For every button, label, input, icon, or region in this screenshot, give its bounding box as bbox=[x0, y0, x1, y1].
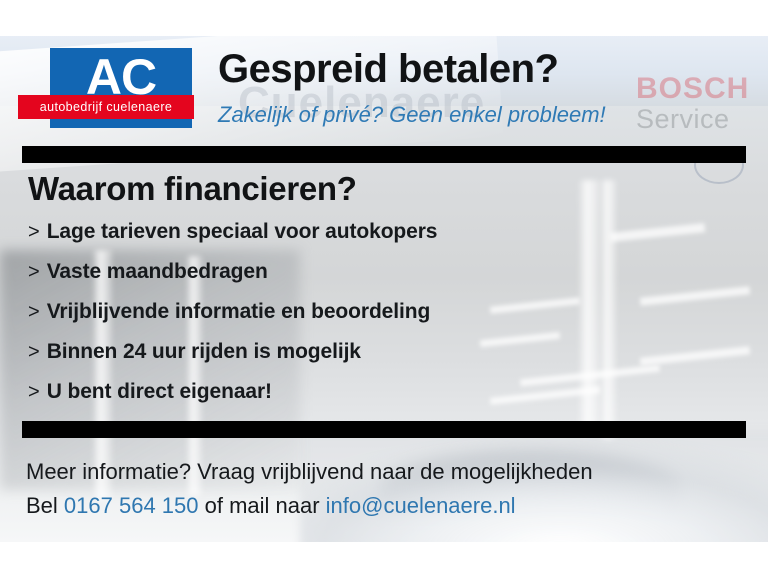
list-item: > Lage tarieven speciaal voor autokopers bbox=[28, 220, 728, 260]
section-title: Waarom financieren? bbox=[28, 170, 357, 208]
footer-mail-middle: of mail naar bbox=[199, 493, 326, 518]
footer-call-prefix: Bel bbox=[26, 493, 64, 518]
list-item-label: U bent direct eigenaar! bbox=[47, 380, 272, 404]
company-logo[interactable]: AC autobedrijf cuelenaere bbox=[18, 48, 194, 130]
list-item-label: Binnen 24 uur rijden is mogelijk bbox=[47, 340, 361, 364]
top-letterbox-band bbox=[0, 0, 768, 36]
email-link[interactable]: info@cuelenaere.nl bbox=[326, 493, 516, 518]
bosch-wordmark: BOSCH bbox=[636, 74, 768, 104]
bosch-service-label: Service bbox=[636, 106, 768, 133]
headline: Gespreid betalen? bbox=[218, 47, 558, 92]
benefits-list: > Lage tarieven speciaal voor autokopers… bbox=[28, 220, 728, 420]
footer-contact-line: Bel 0167 564 150 of mail naar info@cuele… bbox=[26, 489, 742, 523]
list-item-label: Vrijblijvende informatie en beoordeling bbox=[47, 300, 431, 324]
footer-info-line: Meer informatie? Vraag vrijblijvend naar… bbox=[26, 455, 742, 489]
advertisement-banner: Cuelenaere BOSCH Service AC autobedrijf … bbox=[0, 0, 768, 576]
chevron-right-icon: > bbox=[28, 301, 40, 324]
list-item: > U bent direct eigenaar! bbox=[28, 380, 728, 420]
divider-bar-bottom bbox=[22, 421, 746, 438]
chevron-right-icon: > bbox=[28, 341, 40, 364]
list-item: > Binnen 24 uur rijden is mogelijk bbox=[28, 340, 728, 380]
list-item: > Vaste maandbedragen bbox=[28, 260, 728, 300]
list-item-label: Lage tarieven speciaal voor autokopers bbox=[47, 220, 438, 244]
divider-bar-top bbox=[22, 146, 746, 163]
subheadline: Zakelijk of privé? Geen enkel probleem! bbox=[218, 102, 606, 128]
list-item: > Vrijblijvende informatie en beoordelin… bbox=[28, 300, 728, 340]
chevron-right-icon: > bbox=[28, 261, 40, 284]
logo-red-banner: autobedrijf cuelenaere bbox=[18, 95, 194, 119]
phone-number-link[interactable]: 0167 564 150 bbox=[64, 493, 199, 518]
contact-footer: Meer informatie? Vraag vrijblijvend naar… bbox=[26, 455, 742, 523]
chevron-right-icon: > bbox=[28, 221, 40, 244]
logo-tagline: autobedrijf cuelenaere bbox=[40, 100, 173, 114]
chevron-right-icon: > bbox=[28, 381, 40, 404]
list-item-label: Vaste maandbedragen bbox=[47, 260, 268, 284]
bosch-service-watermark: BOSCH Service bbox=[636, 74, 768, 133]
bottom-letterbox-band bbox=[0, 542, 768, 576]
